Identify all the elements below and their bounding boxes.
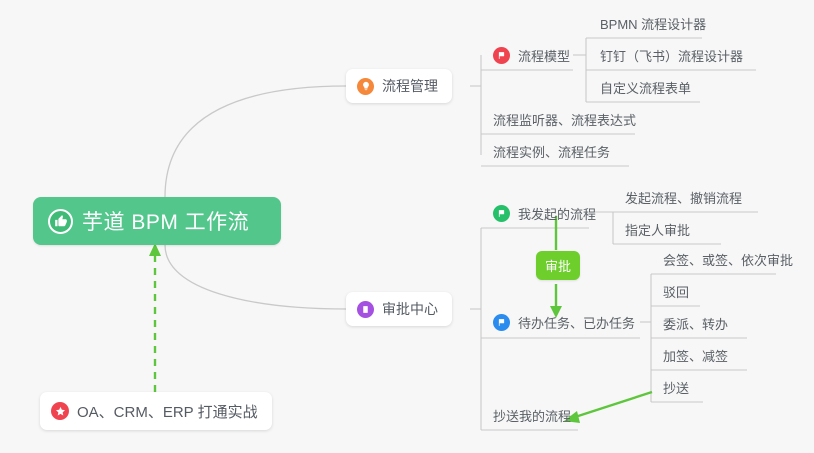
root-label: 芋道 BPM 工作流 [82, 206, 249, 236]
branch-label: 流程管理 [382, 76, 438, 96]
node-label: OA、CRM、ERP 打通实战 [77, 401, 258, 422]
node-label: 待办任务、已办任务 [518, 313, 635, 332]
node-label: 驳回 [663, 282, 689, 301]
branch-label: 审批中心 [382, 299, 438, 319]
star-icon [51, 402, 69, 420]
root-node[interactable]: 芋道 BPM 工作流 [33, 197, 281, 245]
node-label: 抄送 [663, 378, 689, 397]
clipboard-icon [357, 301, 374, 318]
node-label: 发起流程、撤销流程 [625, 188, 742, 207]
branch-process-management[interactable]: 流程管理 [346, 69, 452, 103]
flag-icon [493, 205, 510, 222]
node-custom-form[interactable]: 自定义流程表单 [596, 72, 699, 102]
node-assignee-approval[interactable]: 指定人审批 [621, 214, 698, 244]
node-label: BPMN 流程设计器 [600, 14, 706, 33]
node-label: 抄送我的流程 [493, 406, 571, 425]
flag-icon [493, 314, 510, 331]
node-bpmn-designer[interactable]: BPMN 流程设计器 [596, 8, 714, 38]
node-integration-practice[interactable]: OA、CRM、ERP 打通实战 [40, 392, 272, 430]
flag-icon [493, 47, 510, 64]
node-my-initiated[interactable]: 我发起的流程 [489, 198, 604, 228]
node-cc-to-me[interactable]: 抄送我的流程 [489, 400, 579, 430]
node-delegate-transfer[interactable]: 委派、转办 [659, 308, 736, 338]
node-label: 我发起的流程 [518, 204, 596, 223]
node-label: 自定义流程表单 [600, 78, 691, 97]
node-todo-done-tasks[interactable]: 待办任务、已办任务 [489, 307, 643, 337]
node-label: 加签、减签 [663, 346, 728, 365]
node-label: 流程监听器、流程表达式 [493, 110, 636, 129]
node-start-cancel-process[interactable]: 发起流程、撤销流程 [621, 182, 750, 212]
node-label: 流程模型 [518, 46, 570, 65]
node-label: 委派、转办 [663, 314, 728, 333]
node-reject[interactable]: 驳回 [659, 276, 697, 306]
node-dingtalk-designer[interactable]: 钉钉（飞书）流程设计器 [596, 40, 751, 70]
node-countersign[interactable]: 会签、或签、依次审批 [659, 244, 801, 274]
node-label: 钉钉（飞书）流程设计器 [600, 46, 743, 65]
thumbs-up-icon [48, 209, 73, 234]
node-add-remove-sign[interactable]: 加签、减签 [659, 340, 736, 370]
tag-approval[interactable]: 审批 [536, 251, 580, 280]
node-cc[interactable]: 抄送 [659, 372, 697, 402]
node-process-listener[interactable]: 流程监听器、流程表达式 [489, 104, 644, 134]
node-label: 会签、或签、依次审批 [663, 250, 793, 269]
node-process-model[interactable]: 流程模型 [489, 40, 578, 70]
node-label: 流程实例、流程任务 [493, 142, 610, 161]
node-label: 指定人审批 [625, 220, 690, 239]
branch-approval-center[interactable]: 审批中心 [346, 292, 452, 326]
mindmap-canvas: 芋道 BPM 工作流 流程管理 流程模型 BPMN 流程设计器 钉钉（飞书）流程… [0, 0, 814, 453]
tag-label: 审批 [545, 256, 571, 275]
node-process-instance[interactable]: 流程实例、流程任务 [489, 136, 618, 166]
lightbulb-icon [357, 78, 374, 95]
